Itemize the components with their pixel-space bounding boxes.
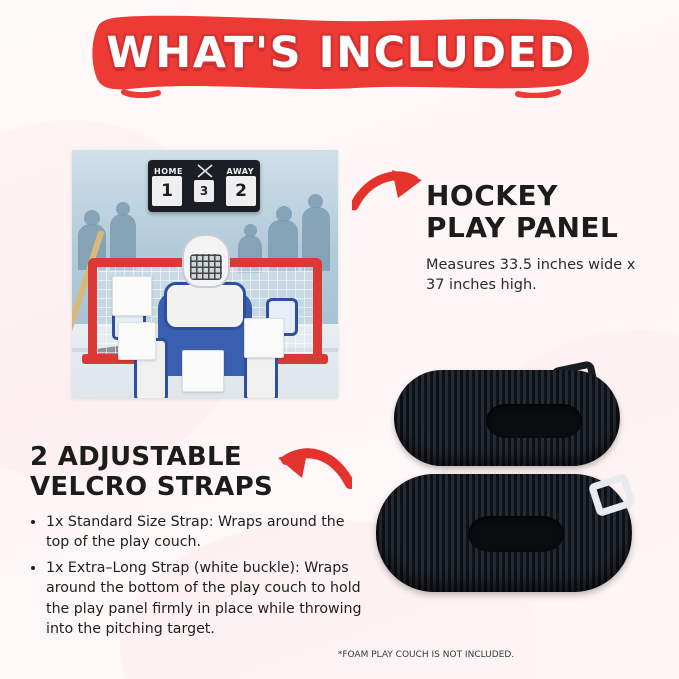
target-patch xyxy=(112,276,152,316)
straps-heading-line2: VELCRO STRAPS xyxy=(30,473,290,503)
scoreboard: HOME AWAY 1 3 2 xyxy=(148,160,260,212)
scoreboard-scores: 1 3 2 xyxy=(152,176,256,206)
target-patch xyxy=(244,318,284,358)
velcro-straps-heading: 2 ADJUSTABLE VELCRO STRAPS xyxy=(30,443,290,503)
arrow-right-svg xyxy=(352,168,430,216)
list-item: 1x Extra–Long Strap (white buckle): Wrap… xyxy=(46,558,370,639)
scoreboard-period: 3 xyxy=(194,180,214,202)
panel-heading-line2: PLAY PANEL xyxy=(426,212,666,244)
strap-coil-center xyxy=(486,404,582,438)
scoreboard-home-score: 1 xyxy=(152,176,182,206)
hockey-play-panel-heading: HOCKEY PLAY PANEL xyxy=(426,180,666,243)
hockey-play-panel-photo: HOME AWAY 1 3 2 xyxy=(72,150,338,398)
goalie-jersey xyxy=(164,282,246,330)
scoreboard-home-label: HOME xyxy=(154,167,183,176)
panel-heading-line1: HOCKEY xyxy=(426,180,666,212)
velcro-straps-bullet-list: 1x Standard Size Strap: Wraps around the… xyxy=(30,512,370,645)
list-item: 1x Standard Size Strap: Wraps around the… xyxy=(46,512,370,552)
goalie-mask-cage-icon xyxy=(190,254,222,280)
scoreboard-away-label: AWAY xyxy=(226,167,254,176)
page-title: WHAT'S INCLUDED xyxy=(88,28,594,78)
target-patch xyxy=(182,350,224,392)
poster-canvas: WHAT'S INCLUDED xyxy=(0,0,679,679)
target-patch xyxy=(118,322,156,360)
header-banner: WHAT'S INCLUDED xyxy=(88,12,594,98)
hockey-play-panel-description: Measures 33.5 inches wide x 37 inches hi… xyxy=(426,256,652,295)
scoreboard-away-score: 2 xyxy=(226,176,256,206)
footnote: *FOAM PLAY COUCH IS NOT INCLUDED. xyxy=(266,650,586,660)
strap-coil-standard xyxy=(394,370,620,466)
strap-coil-center xyxy=(468,516,564,552)
arrow-right-curved-icon xyxy=(352,168,430,216)
velcro-straps-photo xyxy=(368,362,668,632)
straps-heading-line1: 2 ADJUSTABLE xyxy=(30,443,290,473)
bullet-list: 1x Standard Size Strap: Wraps around the… xyxy=(30,512,370,639)
